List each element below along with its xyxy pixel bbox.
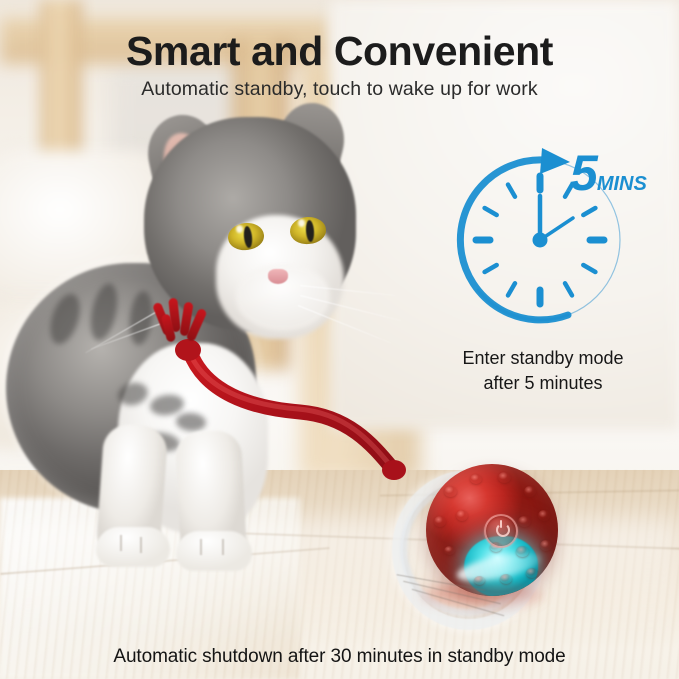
power-icon-stem [500,520,502,528]
cat-eye-highlight [236,225,243,233]
cat-paw-left [96,527,170,567]
power-button[interactable] [484,514,518,548]
product-infographic: 5MINS Smart and Convenient Automatic sta… [0,0,679,679]
clock-caption-line-2: after 5 minutes [398,371,679,396]
clock-value-label: 5MINS [570,148,647,198]
page-title: Smart and Convenient [0,28,679,75]
page-subtitle: Automatic standby, touch to wake up for … [0,78,679,101]
power-icon [496,523,510,537]
rope-tassel [156,302,212,354]
cat-eye-highlight [298,219,305,227]
bottom-caption: Automatic shutdown after 30 minutes in s… [0,646,679,668]
cat-paw-line [120,535,122,551]
cat-paw-line [140,537,142,553]
ball-body [426,464,558,596]
cat-paw-right [176,531,252,571]
clock-caption: Enter standby mode after 5 minutes [398,346,679,396]
clock-caption-line-1: Enter standby mode [398,346,679,371]
clock-value-number: 5 [570,145,597,201]
cat-nose [268,269,288,284]
cat-paw-line [200,539,202,555]
clock-graphic: 5MINS [438,134,648,330]
clock-center-dot [533,233,548,248]
cat-paw-line [222,539,224,555]
clock-value-unit: MINS [597,173,647,195]
product-ball [392,452,572,637]
